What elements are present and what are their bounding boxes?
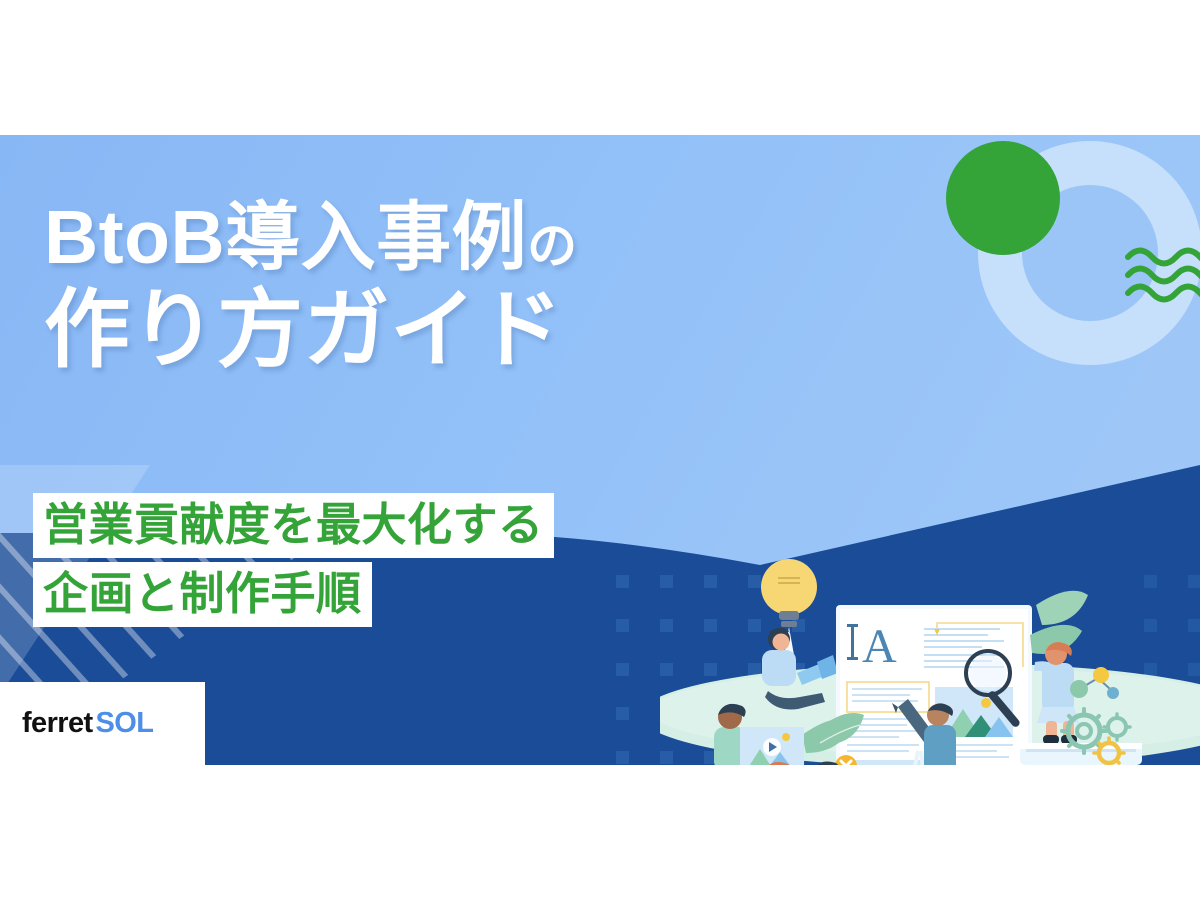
image-block-lower xyxy=(847,760,923,765)
video-thumbnail-card xyxy=(740,727,804,765)
title-line-1-main: BtoB導入事例 xyxy=(44,195,527,279)
logo-secondary-text: SOL xyxy=(96,707,154,739)
title-line-2: 作り方ガイド xyxy=(44,287,578,373)
hero-banner: A xyxy=(0,135,1200,765)
logo-primary-text: ferret xyxy=(22,707,93,739)
banner-stage: A xyxy=(0,0,1200,900)
logo-plate: ferretSOL xyxy=(0,682,205,765)
brand-logo: ferretSOL xyxy=(22,707,153,740)
title-block: BtoB導入事例の 作り方ガイド xyxy=(44,200,578,373)
subtitle-block: 営業貢献度を最大化する 企画と制作手順 xyxy=(33,493,554,627)
document-letter: A xyxy=(862,620,897,673)
subtitle-line-2: 企画と制作手順 xyxy=(33,562,372,627)
subtitle-line-1: 営業貢献度を最大化する xyxy=(33,493,554,558)
title-line-1-suffix: の xyxy=(527,218,578,274)
title-line-1: BtoB導入事例の xyxy=(44,200,578,275)
